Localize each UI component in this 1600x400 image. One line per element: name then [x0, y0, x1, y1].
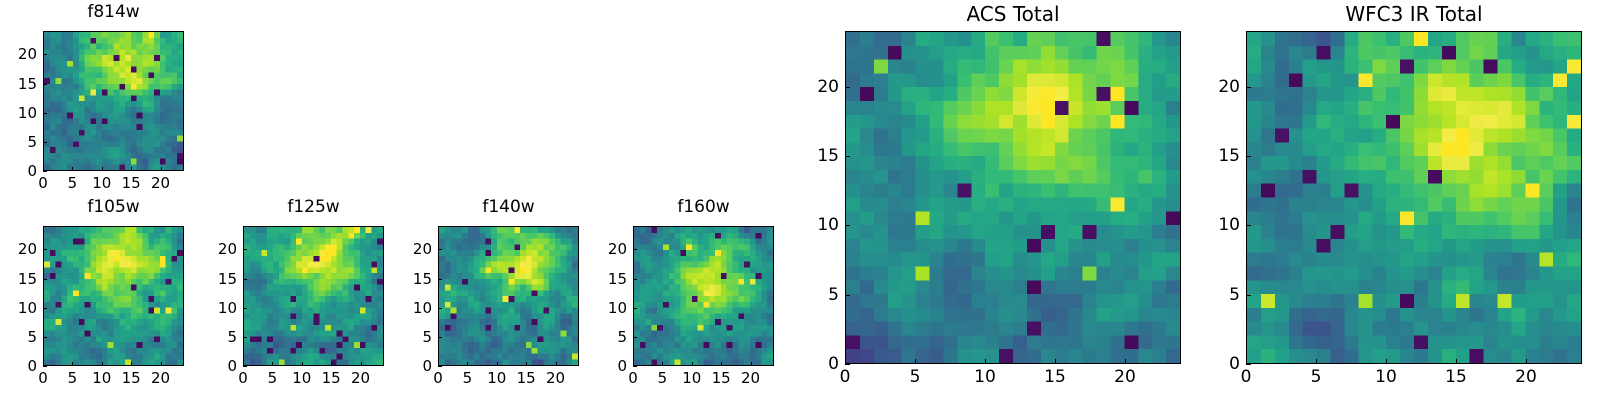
xtick-mark	[272, 362, 273, 366]
panel-f105w: f105w0510152005101520	[0, 0, 1600, 400]
xtick-label: 15	[322, 369, 341, 387]
xtick-mark	[302, 362, 303, 366]
heatmap-f814w	[43, 31, 184, 171]
xtick-mark	[1125, 359, 1126, 364]
xtick-mark	[102, 167, 103, 171]
ytick-label: 15	[380, 270, 432, 288]
ytick-label: 0	[0, 357, 37, 375]
ytick-mark	[1246, 364, 1251, 365]
xtick-label: 10	[974, 367, 996, 387]
ytick-mark	[43, 113, 47, 114]
heatmap-wfc3-ir-total	[1246, 31, 1582, 364]
ytick-mark	[43, 171, 47, 172]
heatmap-canvas-f105w	[44, 227, 183, 365]
ytick-mark	[845, 295, 850, 296]
ytick-mark	[845, 225, 850, 226]
ytick-mark	[845, 87, 850, 88]
xtick-label: 0	[628, 369, 638, 387]
ytick-label: 5	[575, 328, 627, 346]
heatmap-f160w	[633, 226, 774, 366]
ytick-mark	[1246, 156, 1251, 157]
ytick-mark	[43, 279, 47, 280]
panel-f140w: f140w0510152005101520	[0, 0, 1600, 400]
xtick-label: 15	[122, 174, 141, 192]
panel-title-f105w: f105w	[43, 197, 184, 217]
xtick-mark	[43, 362, 44, 366]
panel-wfc3-ir-total: WFC3 IR Total0510152005101520	[0, 0, 1600, 400]
xtick-mark	[751, 362, 752, 366]
ytick-label: 0	[0, 162, 37, 180]
xtick-label: 15	[122, 369, 141, 387]
xtick-label: 15	[712, 369, 731, 387]
ytick-mark	[243, 279, 247, 280]
panel-title-f160w: f160w	[633, 197, 774, 217]
ytick-mark	[438, 337, 442, 338]
ytick-mark	[243, 308, 247, 309]
xtick-mark	[467, 362, 468, 366]
xtick-label: 15	[1044, 367, 1066, 387]
xtick-label: 5	[463, 369, 473, 387]
panel-title-f125w: f125w	[243, 197, 384, 217]
ytick-label: 20	[0, 45, 37, 63]
xtick-label: 5	[910, 367, 921, 387]
heatmap-canvas-f140w	[439, 227, 578, 365]
xtick-label: 20	[546, 369, 565, 387]
xtick-mark	[361, 362, 362, 366]
ytick-label: 0	[787, 354, 839, 374]
xtick-label: 20	[1114, 367, 1136, 387]
xtick-mark	[131, 167, 132, 171]
xtick-label: 0	[38, 369, 48, 387]
ytick-mark	[243, 366, 247, 367]
ytick-label: 15	[575, 270, 627, 288]
ytick-label: 0	[575, 357, 627, 375]
xtick-label: 20	[151, 174, 170, 192]
xtick-mark	[1526, 359, 1527, 364]
ytick-label: 0	[380, 357, 432, 375]
xtick-mark	[692, 362, 693, 366]
xtick-mark	[102, 362, 103, 366]
xtick-label: 0	[433, 369, 443, 387]
ytick-mark	[1246, 295, 1251, 296]
xtick-mark	[1316, 359, 1317, 364]
panel-f814w: f814w0510152005101520	[0, 0, 1600, 400]
ytick-label: 10	[0, 299, 37, 317]
heatmap-canvas-f814w	[44, 32, 183, 170]
panel-title-f814w: f814w	[43, 2, 184, 22]
ytick-mark	[438, 366, 442, 367]
ytick-label: 5	[787, 285, 839, 305]
ytick-label: 5	[0, 328, 37, 346]
xtick-label: 20	[1515, 367, 1537, 387]
xtick-label: 10	[1375, 367, 1397, 387]
ytick-label: 15	[185, 270, 237, 288]
xtick-mark	[438, 362, 439, 366]
ytick-label: 5	[185, 328, 237, 346]
ytick-label: 10	[380, 299, 432, 317]
xtick-label: 5	[268, 369, 278, 387]
xtick-mark	[1456, 359, 1457, 364]
ytick-label: 15	[787, 146, 839, 166]
xtick-mark	[161, 167, 162, 171]
xtick-mark	[915, 359, 916, 364]
xtick-label: 0	[840, 367, 851, 387]
xtick-label: 10	[682, 369, 701, 387]
xtick-label: 5	[1311, 367, 1322, 387]
ytick-label: 20	[0, 240, 37, 258]
ytick-mark	[633, 279, 637, 280]
ytick-label: 5	[1188, 285, 1240, 305]
xtick-mark	[43, 167, 44, 171]
xtick-mark	[243, 362, 244, 366]
panel-title-acs-total: ACS Total	[845, 2, 1181, 26]
xtick-label: 0	[238, 369, 248, 387]
heatmap-canvas-acs-total	[846, 32, 1180, 363]
xtick-mark	[845, 359, 846, 364]
xtick-mark	[1246, 359, 1247, 364]
ytick-mark	[43, 54, 47, 55]
ytick-label: 15	[0, 270, 37, 288]
panel-title-wfc3-ir-total: WFC3 IR Total	[1246, 2, 1582, 26]
ytick-label: 15	[0, 75, 37, 93]
heatmap-f125w	[243, 226, 384, 366]
xtick-mark	[633, 362, 634, 366]
ytick-label: 5	[0, 133, 37, 151]
ytick-mark	[243, 337, 247, 338]
ytick-mark	[43, 84, 47, 85]
heatmap-f105w	[43, 226, 184, 366]
ytick-mark	[43, 366, 47, 367]
xtick-mark	[556, 362, 557, 366]
ytick-mark	[438, 249, 442, 250]
ytick-mark	[43, 142, 47, 143]
panel-f160w: f160w0510152005101520	[0, 0, 1600, 400]
ytick-label: 20	[380, 240, 432, 258]
ytick-mark	[1246, 87, 1251, 88]
xtick-label: 20	[151, 369, 170, 387]
ytick-mark	[633, 308, 637, 309]
xtick-mark	[985, 359, 986, 364]
ytick-label: 20	[787, 77, 839, 97]
xtick-mark	[161, 362, 162, 366]
ytick-label: 10	[787, 215, 839, 235]
ytick-mark	[43, 337, 47, 338]
ytick-mark	[845, 156, 850, 157]
xtick-mark	[72, 362, 73, 366]
xtick-mark	[662, 362, 663, 366]
xtick-label: 10	[92, 174, 111, 192]
ytick-label: 20	[575, 240, 627, 258]
xtick-mark	[497, 362, 498, 366]
xtick-label: 20	[351, 369, 370, 387]
ytick-label: 20	[185, 240, 237, 258]
xtick-label: 15	[517, 369, 536, 387]
xtick-label: 5	[658, 369, 668, 387]
ytick-mark	[633, 366, 637, 367]
panel-f125w: f125w0510152005101520	[0, 0, 1600, 400]
xtick-label: 10	[487, 369, 506, 387]
panel-title-f140w: f140w	[438, 197, 579, 217]
xtick-label: 0	[38, 174, 48, 192]
ytick-label: 10	[185, 299, 237, 317]
heatmap-canvas-f125w	[244, 227, 383, 365]
xtick-label: 5	[68, 174, 78, 192]
xtick-label: 0	[1241, 367, 1252, 387]
xtick-mark	[721, 362, 722, 366]
heatmap-canvas-f160w	[634, 227, 773, 365]
ytick-label: 20	[1188, 77, 1240, 97]
xtick-label: 5	[68, 369, 78, 387]
xtick-label: 15	[1445, 367, 1467, 387]
ytick-mark	[43, 249, 47, 250]
xtick-mark	[526, 362, 527, 366]
ytick-label: 5	[380, 328, 432, 346]
panel-acs-total: ACS Total0510152005101520	[0, 0, 1600, 400]
heatmap-acs-total	[845, 31, 1181, 364]
ytick-label: 0	[185, 357, 237, 375]
ytick-label: 10	[575, 299, 627, 317]
heatmap-canvas-wfc3-ir-total	[1247, 32, 1581, 363]
ytick-mark	[845, 364, 850, 365]
heatmap-f140w	[438, 226, 579, 366]
xtick-mark	[1055, 359, 1056, 364]
ytick-mark	[438, 308, 442, 309]
ytick-mark	[1246, 225, 1251, 226]
xtick-mark	[1386, 359, 1387, 364]
xtick-mark	[72, 167, 73, 171]
xtick-label: 20	[741, 369, 760, 387]
ytick-mark	[43, 308, 47, 309]
ytick-label: 10	[0, 104, 37, 122]
xtick-label: 10	[92, 369, 111, 387]
xtick-label: 10	[292, 369, 311, 387]
ytick-label: 10	[1188, 215, 1240, 235]
ytick-mark	[438, 279, 442, 280]
ytick-label: 15	[1188, 146, 1240, 166]
ytick-label: 0	[1188, 354, 1240, 374]
ytick-mark	[633, 249, 637, 250]
xtick-mark	[331, 362, 332, 366]
ytick-mark	[243, 249, 247, 250]
xtick-mark	[131, 362, 132, 366]
ytick-mark	[633, 337, 637, 338]
